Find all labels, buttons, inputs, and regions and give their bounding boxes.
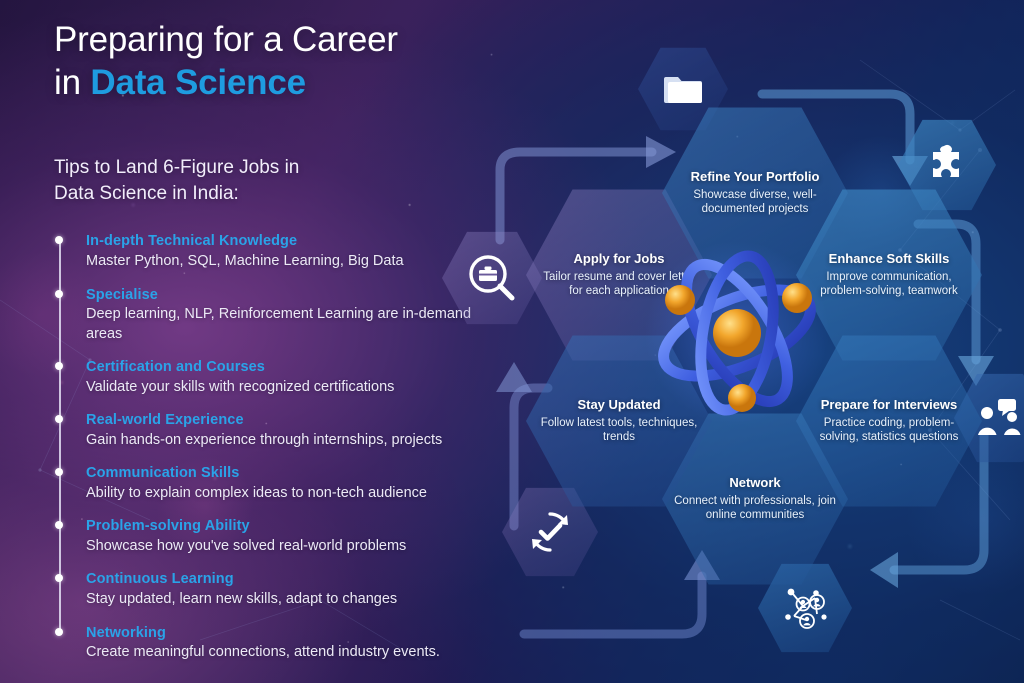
step-title: Network (729, 475, 780, 490)
job-search-icon (466, 252, 518, 304)
step-title: Enhance Soft Skills (829, 251, 950, 266)
tips-list: In-depth Technical Knowledge Master Pyth… (54, 232, 494, 662)
hexagon-flow-diagram: Apply for Jobs Tailor resume and cover l… (430, 0, 1024, 683)
icon-hex-job-search (442, 230, 542, 326)
page-title: Preparing for a Career in Data Science (54, 18, 494, 105)
bullet-dot-icon (55, 415, 63, 423)
refresh-check-icon (527, 509, 573, 555)
infographic-canvas: Preparing for a Career in Data Science T… (0, 0, 1024, 683)
title-line-2-prefix: in (54, 63, 90, 102)
bullet-dot-icon (55, 362, 63, 370)
bullet-dot-icon (55, 236, 63, 244)
subtitle-line-2: Data Science in India: (54, 183, 239, 204)
step-desc: Showcase diverse, well-documented projec… (672, 188, 838, 217)
step-title: Refine Your Portfolio (691, 169, 820, 184)
folder-icon (663, 71, 703, 107)
title-line-2-accent: Data Science (90, 63, 306, 102)
atom-graphic (642, 238, 832, 428)
bullet-dot-icon (55, 290, 63, 298)
bullet-dot-icon (55, 521, 63, 529)
step-desc: Connect with professionals, join online … (672, 494, 838, 523)
subtitle: Tips to Land 6-Figure Jobs in Data Scien… (54, 155, 494, 207)
interview-people-icon (976, 397, 1024, 439)
subtitle-line-1: Tips to Land 6-Figure Jobs in (54, 157, 299, 178)
bullet-dot-icon (55, 574, 63, 582)
puzzle-piece-icon (924, 142, 970, 188)
network-nodes-icon (780, 584, 830, 632)
left-content-column: Preparing for a Career in Data Science T… (54, 18, 494, 677)
step-title: Prepare for Interviews (821, 397, 958, 412)
bullet-dot-icon (55, 468, 63, 476)
bullet-dot-icon (55, 628, 63, 636)
title-line-1: Preparing for a Career (54, 20, 398, 59)
